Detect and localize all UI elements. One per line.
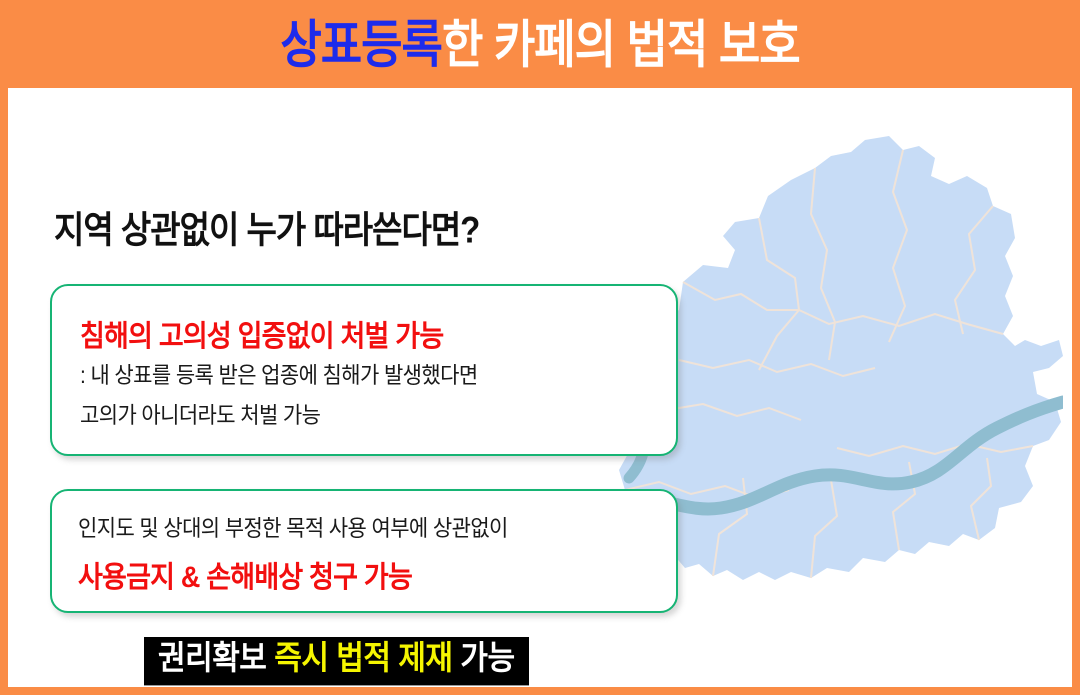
- map-landmass: [615, 136, 1063, 580]
- banner-part-1: 권리확보: [158, 640, 266, 676]
- infographic-root: 상표등록한 카페의 법적 보호: [0, 0, 1080, 695]
- page-title-rest: 한 카페의 법적 보호: [442, 15, 800, 74]
- card-1-line-1: : 내 상표를 등록 받은 업종에 침해가 발생했다면: [80, 358, 478, 390]
- section-heading: 지역 상관없이 누가 따라쓴다면?: [54, 200, 479, 254]
- card-1-line-2: 고의가 아니더라도 처벌 가능: [80, 398, 320, 430]
- card-1-headline: 침해의 고의성 입증없이 처벌 가능: [80, 312, 443, 355]
- info-card-2: 인지도 및 상대의 부정한 목적 사용 여부에 상관없이 사용금지 & 손해배상…: [50, 489, 678, 613]
- map-district-lines: [625, 150, 1033, 578]
- banner-part-2: 즉시 법적 제재: [274, 640, 452, 676]
- page-title: 상표등록한 카페의 법적 보호: [280, 18, 799, 70]
- page-title-highlight: 상표등록: [280, 15, 442, 74]
- info-card-1: 침해의 고의성 입증없이 처벌 가능 : 내 상표를 등록 받은 업종에 침해가…: [50, 284, 678, 456]
- header-band: 상표등록한 카페의 법적 보호: [0, 0, 1080, 88]
- card-2-headline: 사용금지 & 손해배상 청구 가능: [78, 553, 412, 596]
- content-panel: Coffee Coffee Coffee: [8, 88, 1072, 687]
- conclusion-banner: 권리확보 즉시 법적 제재 가능: [144, 637, 529, 685]
- card-2-line-1: 인지도 및 상대의 부정한 목적 사용 여부에 상관없이: [78, 511, 508, 543]
- banner-part-3: 가능: [460, 640, 514, 676]
